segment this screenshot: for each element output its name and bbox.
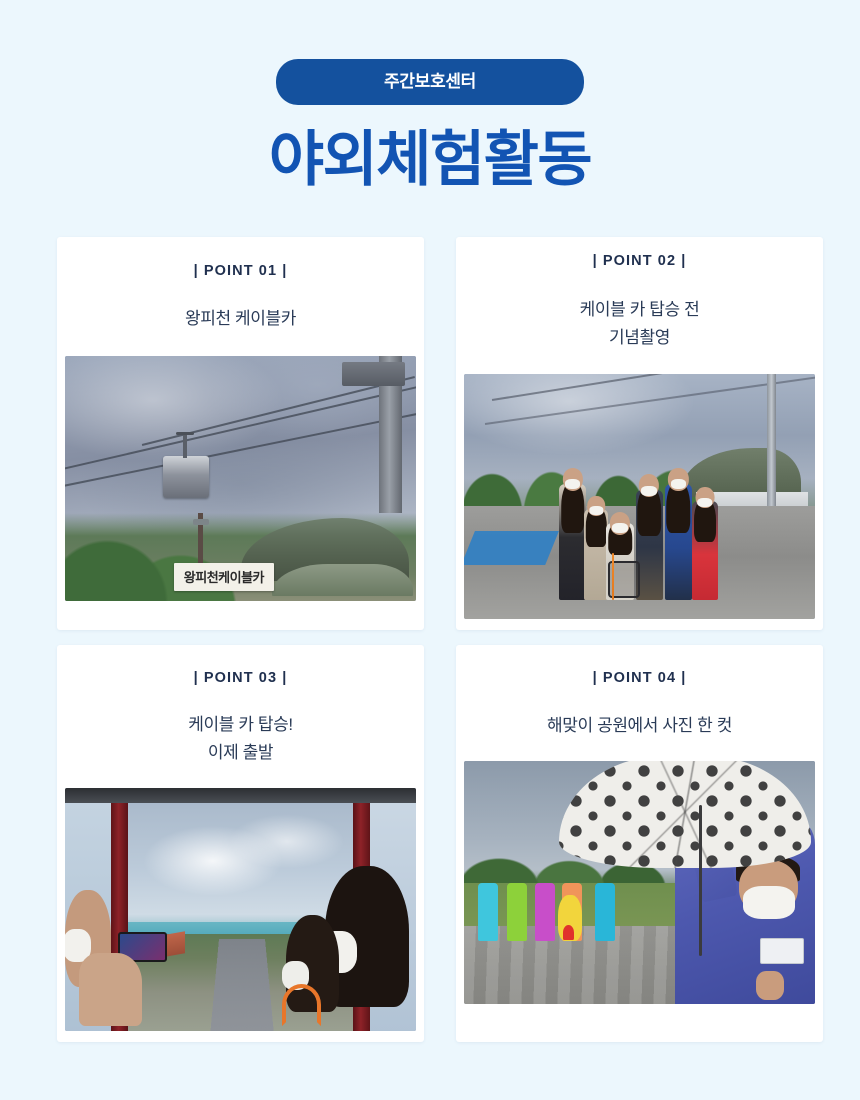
umbrella-shaft — [699, 805, 702, 956]
face-mask — [641, 486, 657, 496]
card-02-header: | POINT 02 | 케이블 카 탑승 전 기념촬영 — [456, 237, 823, 352]
face-mask — [589, 506, 603, 515]
card-01-photo: 왕피천케이블카 — [65, 356, 416, 601]
card-caption-01: 왕피천 케이블카 — [69, 305, 412, 333]
face — [639, 474, 659, 497]
accessible-parking-marking — [464, 531, 559, 565]
person — [665, 484, 692, 599]
polka-dot-umbrella — [559, 761, 812, 868]
orange-handle — [282, 984, 322, 1026]
photo-inside-cable-car — [65, 788, 416, 1031]
person — [692, 501, 718, 600]
face-mask — [698, 498, 713, 507]
card-01-header: | POINT 01 | 왕피천 케이블카 — [57, 237, 424, 333]
cabin-ceiling — [65, 788, 416, 803]
category-badge: 주간보호센터 — [276, 59, 584, 105]
point-card-01[interactable]: | POINT 01 | 왕피천 케이블카 왕피천케이블카 — [57, 237, 424, 630]
arm-holding-phone — [79, 953, 142, 1026]
cable-pylon — [379, 356, 402, 513]
support-pole — [767, 374, 776, 526]
point-label-04: | POINT 04 | — [468, 670, 811, 686]
station-canopy — [272, 564, 412, 596]
card-caption-04: 해맞이 공원에서 사진 한 컷 — [468, 712, 811, 740]
point-card-04[interactable]: | POINT 04 | 해맞이 공원에서 사진 한 컷 — [456, 645, 823, 1042]
face — [613, 478, 631, 498]
letter-sculpture-l — [507, 883, 527, 941]
letter-sculpture-n — [595, 883, 615, 941]
umbrella-ribs — [559, 761, 812, 868]
face-mask — [671, 479, 687, 489]
face-mask — [615, 487, 629, 496]
person — [636, 490, 663, 600]
face — [610, 512, 630, 535]
point-label-03: | POINT 03 | — [69, 670, 412, 686]
card-04-header: | POINT 04 | 해맞이 공원에서 사진 한 컷 — [456, 645, 823, 740]
page-title: 야외체험활동 — [0, 128, 860, 191]
point-card-03[interactable]: | POINT 03 | 케이블 카 탑승! 이제 출발 — [57, 645, 424, 1042]
point-card-02[interactable]: | POINT 02 | 케이블 카 탑승 전 기념촬영 — [456, 237, 823, 630]
card-caption-03: 케이블 카 탑승! 이제 출발 — [69, 711, 412, 767]
point-label-02: | POINT 02 | — [468, 253, 811, 269]
point-card-grid: | POINT 01 | 왕피천 케이블카 왕피천케이블카 | POINT 02… — [57, 237, 823, 1042]
letter-sculpture-j — [535, 883, 555, 941]
group-of-people — [555, 462, 738, 599]
uljin-letter-sculptures — [475, 883, 658, 941]
photo-sign-label: 왕피천케이블카 — [174, 563, 274, 591]
face-mask — [743, 886, 795, 919]
card-04-photo — [464, 761, 815, 1004]
card-caption-02: 케이블 카 탑승 전 기념촬영 — [468, 296, 811, 352]
card-02-photo — [464, 374, 815, 619]
card-03-header: | POINT 03 | 케이블 카 탑승! 이제 출발 — [57, 645, 424, 767]
letter-sculpture-u — [478, 883, 498, 941]
person — [559, 484, 586, 599]
photo-uljin-park — [464, 761, 815, 1004]
folded-umbrella — [612, 553, 615, 600]
point-label-01: | POINT 01 | — [69, 263, 412, 279]
yellow-mascot — [558, 895, 582, 940]
page-header: 주간보호센터 야외체험활동 — [0, 0, 860, 191]
face-mask — [565, 479, 581, 489]
photo-cable-car-sky: 왕피천케이블카 — [65, 356, 416, 601]
cable-car-cabin — [163, 456, 209, 498]
face-mask — [612, 523, 628, 533]
photo-group-portrait — [464, 374, 815, 619]
face — [695, 487, 714, 508]
face — [668, 468, 688, 491]
name-tag — [760, 938, 804, 964]
face — [562, 468, 582, 491]
card-03-photo — [65, 788, 416, 1031]
person — [584, 509, 608, 600]
face — [588, 496, 606, 516]
hand — [756, 971, 784, 1001]
